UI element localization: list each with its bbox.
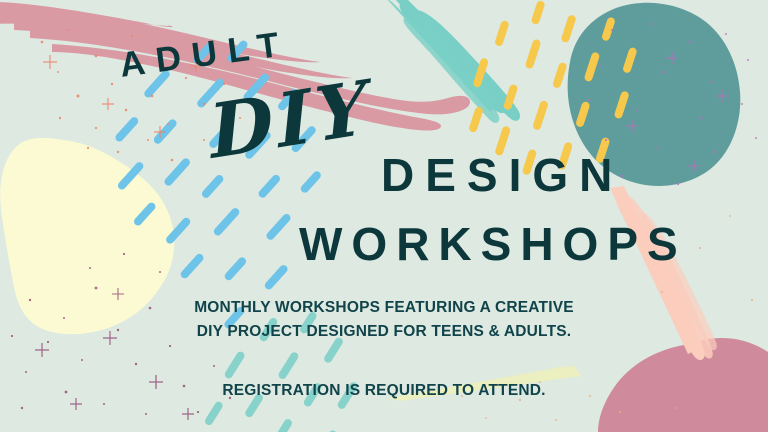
rose-organic-blob-bottom-right (598, 338, 768, 432)
cream-organic-blob-left (0, 138, 174, 334)
decorative-graphics-layer (0, 0, 768, 432)
peach-brush-stroke-right (610, 186, 717, 360)
pale-yellow-streak-bottom (382, 364, 582, 401)
teal-organic-blob-top-right (568, 3, 741, 186)
pink-brush-stroke-top-left (0, 2, 470, 131)
mint-dash-cluster-bottom (181, 289, 417, 432)
poster-canvas: ADULT DIY DESIGN WORKSHOPS MONTHLY WORKS… (0, 0, 768, 432)
